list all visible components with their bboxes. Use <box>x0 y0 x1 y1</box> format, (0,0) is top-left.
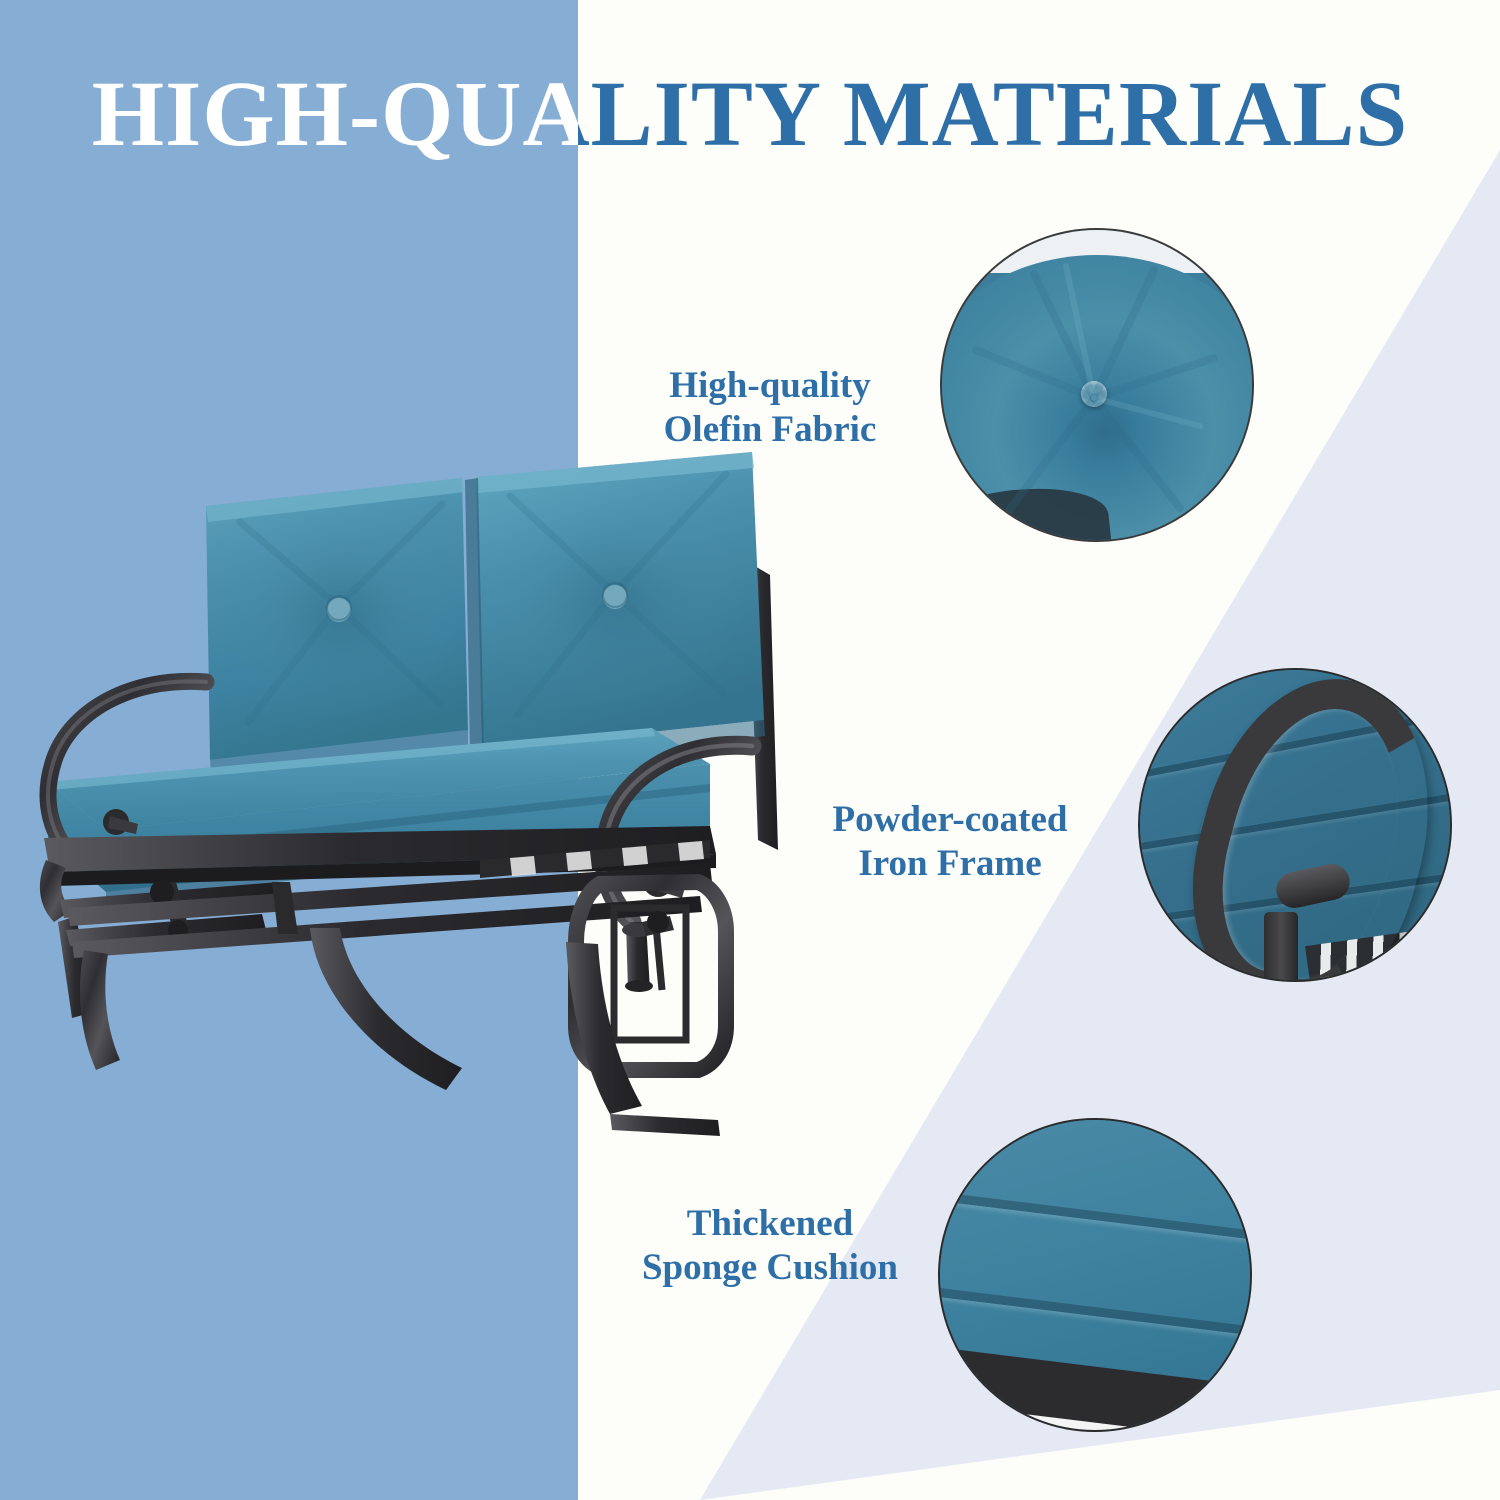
feature-label-fabric-line2: Olefin Fabric <box>605 408 935 452</box>
callout-circle-fabric <box>940 228 1254 542</box>
feature-label-sponge-line1: Thickened <box>600 1202 940 1246</box>
callout-circle-sponge <box>938 1118 1252 1432</box>
feature-label-frame: Powder-coated Iron Frame <box>790 798 1110 886</box>
page-title: HIGH-QUALITY MATERIALS HIGH-QUALITY MATE… <box>0 60 1500 170</box>
back-cushion-left <box>206 478 468 776</box>
product-illustration-glider-loveseat <box>10 430 800 1150</box>
callout-fabric-folds <box>942 230 1252 540</box>
leg-front-left <box>80 950 120 1070</box>
callout-circle-frame <box>1138 668 1452 982</box>
feature-label-fabric-line1: High-quality <box>605 364 935 408</box>
feature-label-frame-line2: Iron Frame <box>790 842 1110 886</box>
callout-armrest-post <box>1264 912 1298 982</box>
back-cushion-right <box>476 452 765 766</box>
infographic-canvas: HIGH-QUALITY MATERIALS HIGH-QUALITY MATE… <box>0 0 1500 1500</box>
feature-label-sponge-line2: Sponge Cushion <box>600 1246 940 1290</box>
leg-center-support <box>310 928 462 1090</box>
feature-label-frame-line1: Powder-coated <box>790 798 1110 842</box>
feature-label-sponge: Thickened Sponge Cushion <box>600 1202 940 1290</box>
feature-label-fabric: High-quality Olefin Fabric <box>605 364 935 452</box>
